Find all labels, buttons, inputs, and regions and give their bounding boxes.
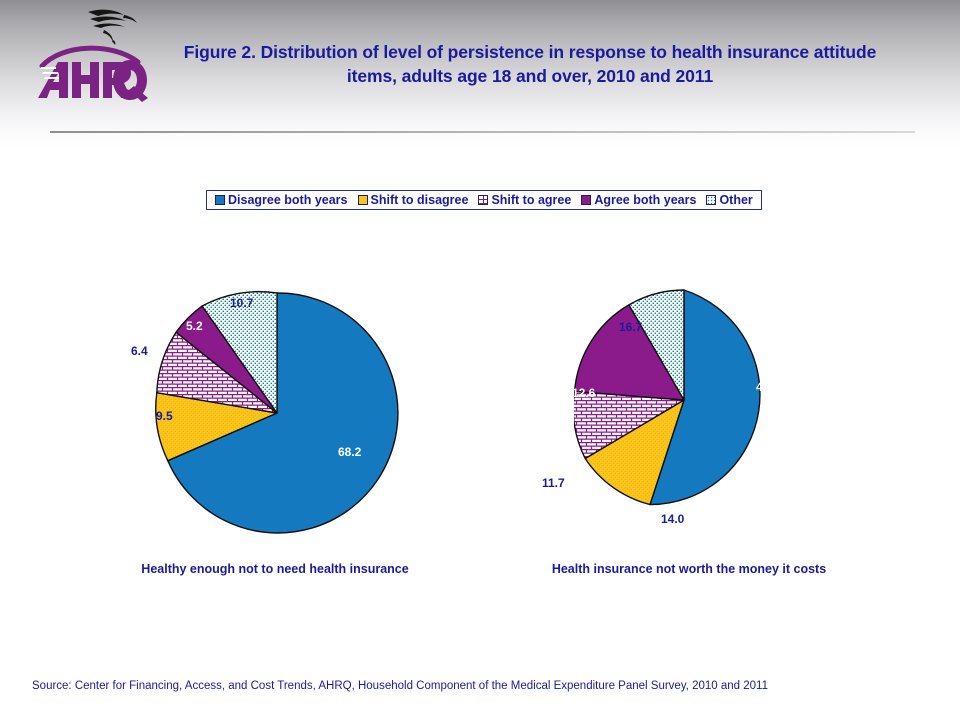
chart-legend: Disagree both years Shift to disagree Sh…: [206, 190, 762, 210]
header-divider-rule: [50, 131, 915, 133]
pie-left-caption: Healthy enough not to need health insura…: [120, 562, 430, 576]
legend-item-shift-to-agree[interactable]: Shift to agree: [473, 193, 576, 207]
slice-value-shift-to-agree: 11.7: [542, 476, 565, 490]
source-note: Source: Center for Financing, Access, an…: [32, 680, 768, 692]
pie-chart-healthy-enough: 68.2 9.5 6.4 5.2 10.7 Healthy enough not…: [120, 268, 430, 568]
pie-chart-not-worth-money: 45.0 14.0 11.7 12.6 16.7 Health insuranc…: [574, 288, 804, 578]
legend-swatch-shift-to-disagree: [358, 195, 368, 205]
legend-label-disagree-both-years: Disagree both years: [228, 193, 348, 207]
legend-swatch-shift-to-agree: [478, 195, 488, 205]
legend-swatch-agree-both-years: [581, 195, 591, 205]
legend-item-disagree-both-years[interactable]: Disagree both years: [210, 193, 353, 207]
ahrq-logo: [34, 6, 160, 108]
slice-value-disagree-both-years: 45.0: [756, 380, 779, 394]
slice-value-agree-both-years: 12.6: [572, 386, 595, 400]
ahrq-wordmark: [34, 40, 152, 102]
slice-value-agree-both-years: 5.2: [186, 319, 203, 333]
legend-label-shift-to-disagree: Shift to disagree: [371, 193, 469, 207]
legend-label-other: Other: [719, 193, 752, 207]
slice-value-other: 16.7: [619, 320, 642, 334]
legend-label-shift-to-agree: Shift to agree: [491, 193, 571, 207]
legend-label-agree-both-years: Agree both years: [594, 193, 696, 207]
slice-value-shift-to-agree: 6.4: [131, 344, 148, 358]
legend-item-agree-both-years[interactable]: Agree both years: [576, 193, 701, 207]
legend-item-shift-to-disagree[interactable]: Shift to disagree: [353, 193, 474, 207]
legend-swatch-other: [706, 195, 716, 205]
figure-title: Figure 2. Distribution of level of persi…: [180, 40, 880, 88]
pie-right-graphic: [574, 288, 804, 518]
slice-value-other: 10.7: [230, 296, 253, 310]
slice-value-disagree-both-years: 68.2: [338, 445, 361, 459]
pie-right-caption: Health insurance not worth the money it …: [539, 562, 839, 576]
pie-left-graphic: [120, 268, 430, 548]
slice-value-shift-to-disagree: 14.0: [661, 512, 684, 526]
slice-value-shift-to-disagree: 9.5: [156, 409, 173, 423]
legend-swatch-disagree-both-years: [215, 195, 225, 205]
legend-item-other[interactable]: Other: [701, 193, 757, 207]
